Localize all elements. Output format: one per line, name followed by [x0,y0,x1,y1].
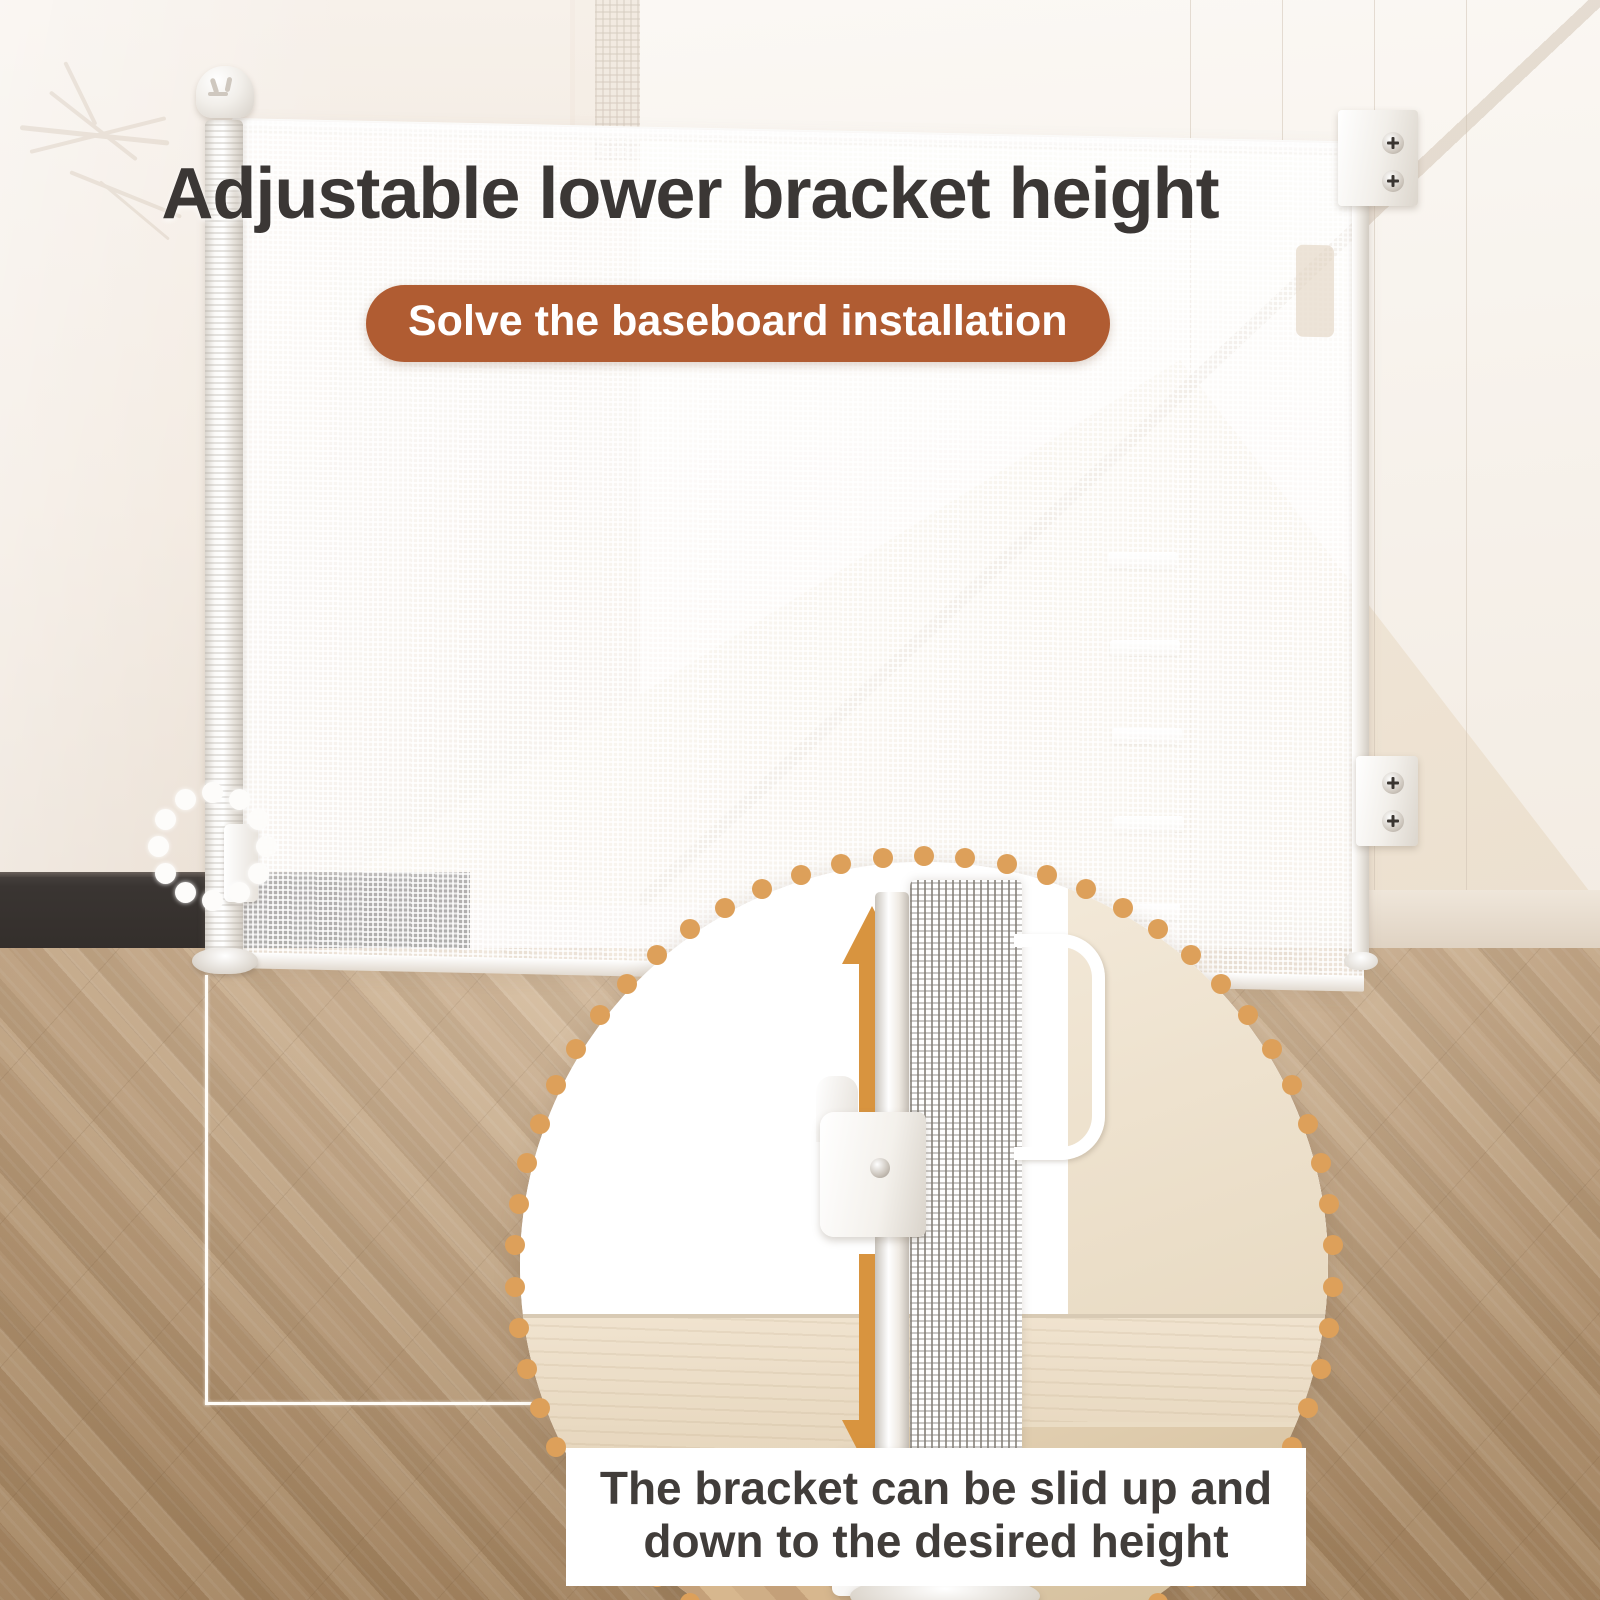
gate-mesh-slot [1296,245,1334,338]
inset-caption-line2: down to the desired height [576,1515,1296,1568]
screw-icon [1382,810,1404,832]
inset-caption-line1: The bracket can be slid up and [576,1462,1296,1515]
inset-caption: The bracket can be slid up and down to t… [566,1448,1306,1586]
page-title: Adjustable lower bracket height [0,158,1380,230]
screw-icon [870,1158,890,1178]
callout-leader-vertical [205,975,208,1405]
inset-wall-right [1068,862,1328,1332]
status-badge: Solve the baseboard installation [366,285,1110,362]
roller-post-cap [196,66,254,118]
wall-bracket-bottom-right [1356,756,1418,846]
stair-riser-line [1466,0,1467,905]
gate-right-rail-foot [1344,952,1378,970]
roller-post-base [192,948,258,974]
product-infographic: Adjustable lower bracket height Solve th… [0,0,1600,1600]
screw-icon [1382,772,1404,794]
screw-icon [1382,170,1404,192]
gate-mesh-panel [232,120,1364,989]
screw-icon [1382,132,1404,154]
bracket-highlight-ring [148,782,276,910]
inset-handle [1014,934,1105,1160]
